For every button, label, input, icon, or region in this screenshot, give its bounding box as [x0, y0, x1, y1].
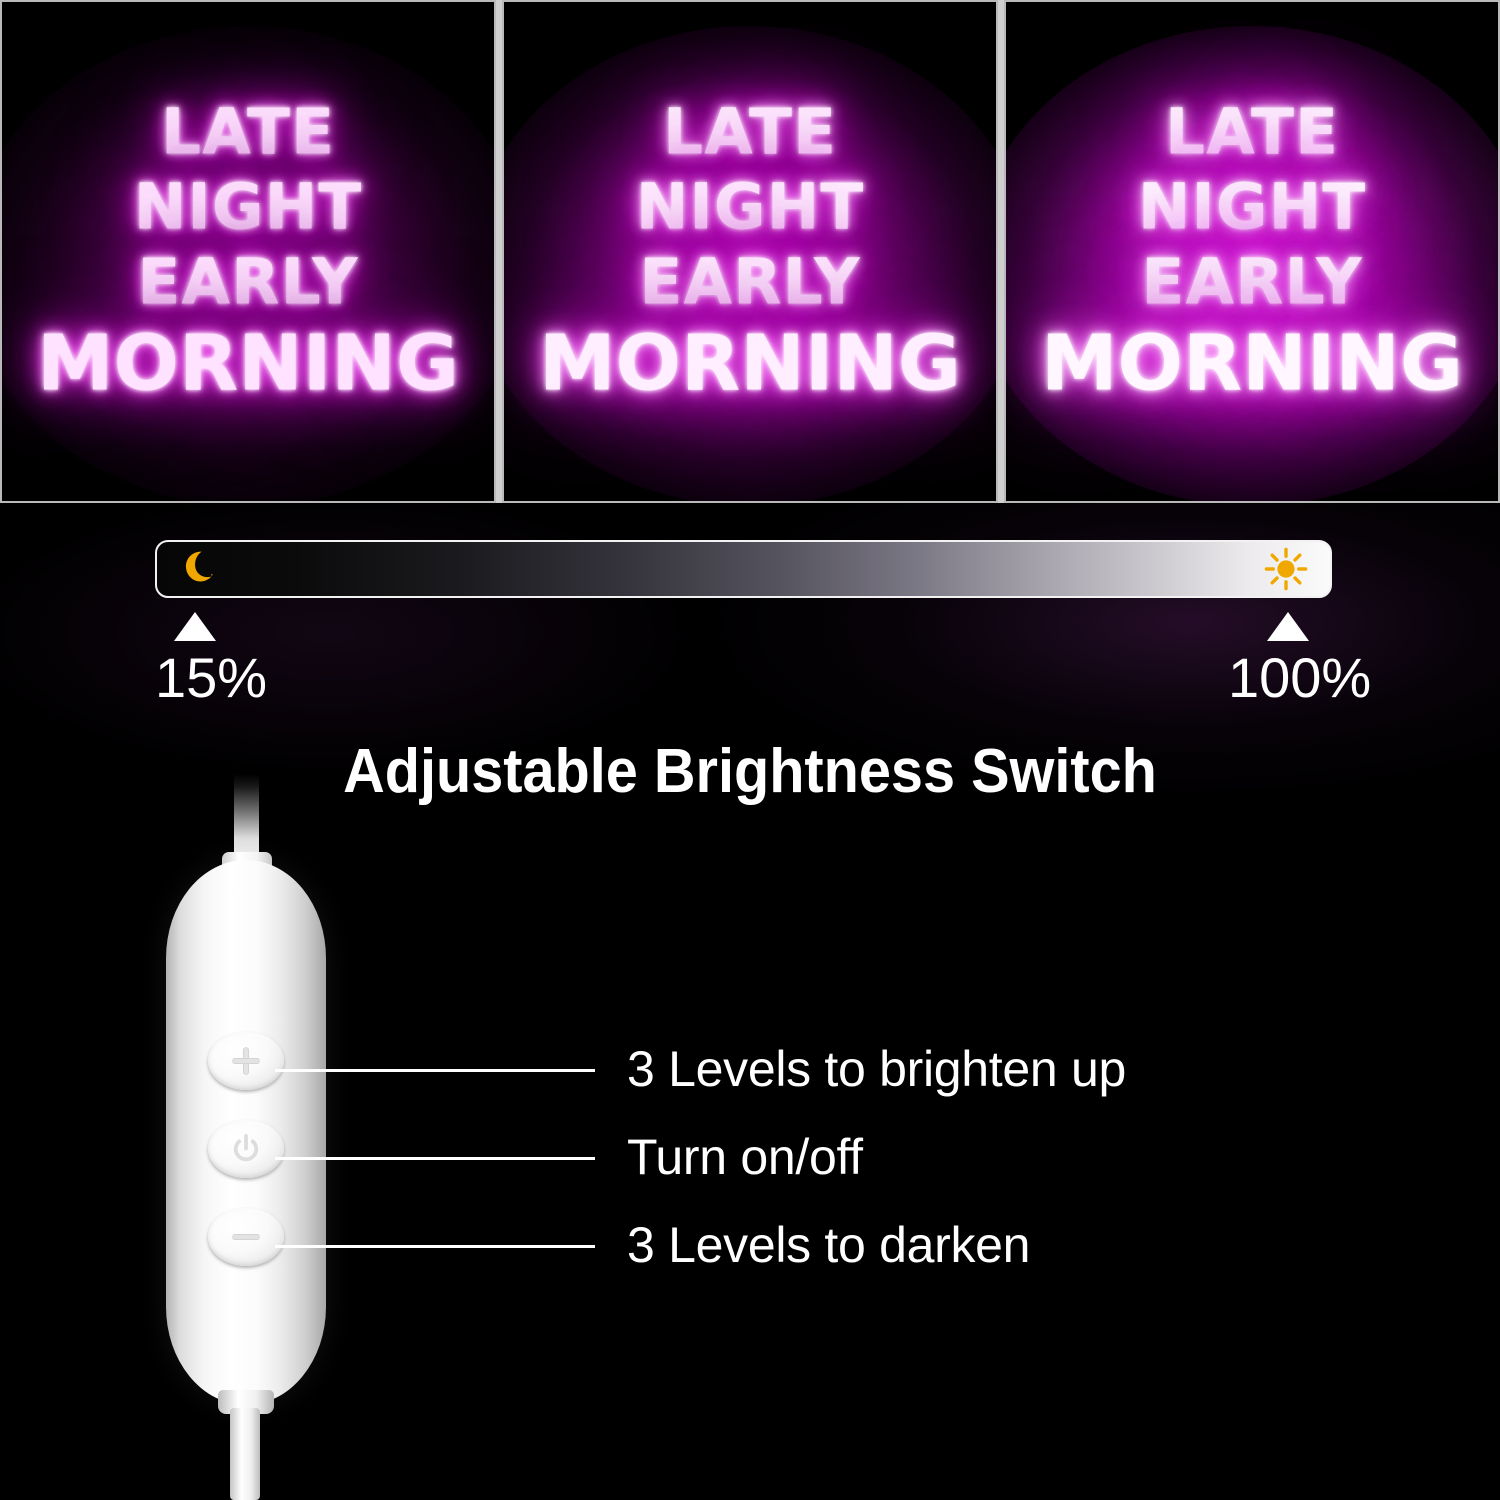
brightness-down-button[interactable]	[208, 1208, 284, 1266]
power-icon	[208, 1120, 284, 1178]
neon-sign-text: LATE NIGHT EARLY MORNING	[1006, 87, 1498, 416]
neon-line-3: EARLY	[1006, 252, 1498, 312]
neon-glow-haze	[0, 26, 496, 503]
neon-sign-text: LATE NIGHT EARLY MORNING	[504, 87, 996, 416]
inline-dimmer-switch	[150, 770, 450, 1500]
neon-line-2: NIGHT	[2, 177, 494, 237]
callout-line-darken	[275, 1245, 595, 1248]
neon-sign-panel-dim: LATE NIGHT EARLY MORNING	[0, 0, 496, 503]
callout-label-brighten: 3 Levels to brighten up	[627, 1040, 1126, 1098]
sun-icon	[1264, 547, 1308, 591]
neon-line-1: LATE	[504, 102, 996, 162]
callout-line-power	[275, 1157, 595, 1160]
moon-icon	[181, 549, 221, 589]
slider-max-label: 100%	[1228, 645, 1371, 710]
neon-glow-haze	[502, 26, 998, 503]
neon-line-4: MORNING	[2, 327, 494, 400]
neon-line-1: LATE	[2, 102, 494, 162]
neon-sign-panel-bright: LATE NIGHT EARLY MORNING	[1004, 0, 1500, 503]
power-button[interactable]	[208, 1120, 284, 1178]
neon-glow-haze	[1004, 26, 1500, 503]
neon-sign-panel-row: LATE NIGHT EARLY MORNING LATE NIGHT EARL…	[0, 0, 1500, 503]
neon-sign-text: LATE NIGHT EARLY MORNING	[2, 87, 494, 416]
callout-label-darken: 3 Levels to darken	[627, 1216, 1030, 1274]
minus-icon	[208, 1208, 284, 1266]
brightness-slider-track[interactable]	[155, 540, 1332, 598]
neon-line-4: MORNING	[1006, 327, 1498, 400]
neon-sign-panel-medium: LATE NIGHT EARLY MORNING	[502, 0, 998, 503]
neon-line-1: LATE	[1006, 102, 1498, 162]
neon-line-2: NIGHT	[504, 177, 996, 237]
slider-marker-min	[174, 612, 216, 641]
neon-line-2: NIGHT	[1006, 177, 1498, 237]
power-cord-bottom	[230, 1408, 260, 1500]
callout-line-brighten	[275, 1069, 595, 1072]
neon-line-3: EARLY	[504, 252, 996, 312]
product-infographic: LATE NIGHT EARLY MORNING LATE NIGHT EARL…	[0, 0, 1500, 1500]
slider-marker-max	[1267, 612, 1309, 641]
brightness-up-button[interactable]	[208, 1032, 284, 1090]
brightness-slider[interactable]	[155, 540, 1332, 598]
plus-icon	[208, 1032, 284, 1090]
neon-line-3: EARLY	[2, 252, 494, 312]
neon-line-4: MORNING	[504, 327, 996, 400]
slider-min-label: 15%	[155, 645, 267, 710]
callout-label-power: Turn on/off	[627, 1128, 863, 1186]
